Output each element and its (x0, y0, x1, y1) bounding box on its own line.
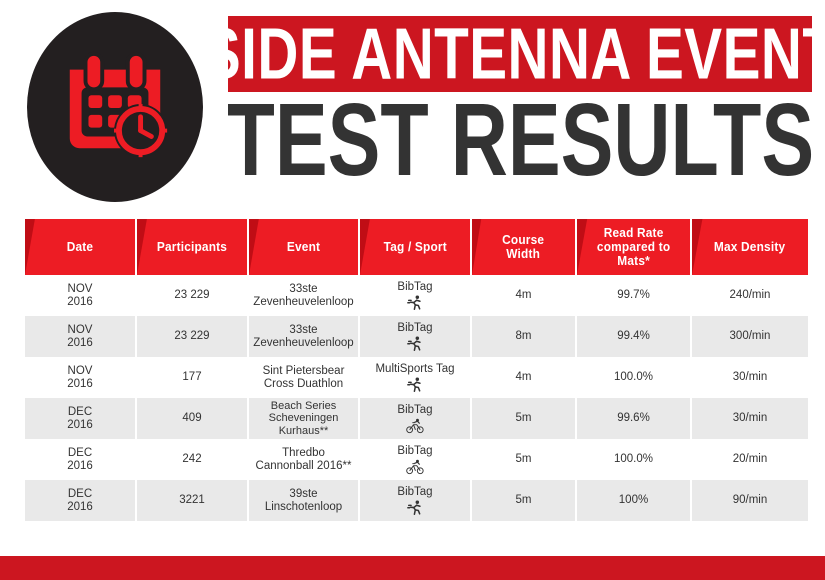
column-header-event: Event (249, 219, 360, 275)
column-header-read-rate-label: Read Rate compared to Mats* (593, 226, 674, 268)
cell-line-1: 409 (182, 412, 201, 425)
cell-line-1: 5m (516, 412, 532, 425)
cell-line-3: Kurhaus** (279, 425, 329, 438)
cell-line-1: 3221 (179, 494, 205, 507)
read-rate-line-1: Read Rate (597, 226, 670, 240)
table-body: NOV201623 22933steZevenheuvelenloopBibTa… (25, 275, 808, 521)
cell-course-width: 4m (472, 357, 577, 398)
cell-line-1: NOV (68, 283, 93, 296)
cell-line-1: 99.7% (617, 289, 650, 302)
running-icon (406, 500, 424, 516)
cell-event: 33steZevenheuvelenloop (249, 316, 360, 357)
cycling-icon (406, 459, 424, 475)
cell-date: NOV2016 (25, 275, 137, 316)
cell-line-1: 240/min (730, 289, 771, 302)
cell-event: Sint PietersbearCross Duathlon (249, 357, 360, 398)
cell-line-1: Thredbo (282, 447, 325, 460)
cell-line-1: 23 229 (174, 289, 209, 302)
cell-date: DEC2016 (25, 398, 137, 439)
table-header-row: Date Participants Event Tag / Sport Cour… (25, 219, 808, 275)
cell-course-width: 5m (472, 439, 577, 480)
cell-date: DEC2016 (25, 439, 137, 480)
column-header-course-width: Course Width (472, 219, 577, 275)
column-header-event-label: Event (283, 240, 324, 254)
cell-date: NOV2016 (25, 357, 137, 398)
column-header-tag-sport-label: Tag / Sport (380, 240, 451, 254)
column-header-date-label: Date (63, 240, 97, 254)
cell-line-1: NOV (68, 365, 93, 378)
cell-read-rate: 99.4% (577, 316, 692, 357)
cell-read-rate: 100.0% (577, 439, 692, 480)
cycling-icon (406, 418, 424, 434)
cell-line-1: 8m (516, 330, 532, 343)
cell-event: 33steZevenheuvelenloop (249, 275, 360, 316)
cell-line-1: 4m (516, 371, 532, 384)
cell-line-2: Cannonball 2016** (256, 460, 352, 473)
cell-course-width: 5m (472, 398, 577, 439)
cell-participants: 177 (137, 357, 249, 398)
cell-line-2: Linschotenloop (265, 501, 342, 514)
calendar-clock-logo (27, 12, 203, 202)
title-block: SIDE ANTENNA EVENT TEST RESULTS (228, 16, 812, 186)
cell-line-1: DEC (68, 447, 92, 460)
table-row: DEC2016242ThredboCannonball 2016**BibTag… (25, 439, 808, 480)
cell-line-2: Zevenheuvelenloop (253, 296, 353, 309)
table-row: DEC2016409Beach SeriesScheveningenKurhau… (25, 398, 808, 439)
column-header-participants-label: Participants (153, 240, 231, 254)
cell-line-2: 2016 (67, 337, 93, 350)
poster-page: SIDE ANTENNA EVENT TEST RESULTS Date Par… (0, 0, 825, 580)
cell-line-1: 99.4% (617, 330, 650, 343)
cell-tag-sport: BibTag (360, 480, 472, 521)
cell-line-1: Beach Series (271, 400, 336, 413)
table-row: NOV2016177Sint PietersbearCross Duathlon… (25, 357, 808, 398)
title-sub: TEST RESULTS (228, 94, 812, 186)
cell-max-density: 30/min (692, 357, 808, 398)
cell-line-1: BibTag (397, 404, 432, 417)
running-icon (406, 295, 424, 311)
cell-max-density: 30/min (692, 398, 808, 439)
cell-line-1: 39ste (289, 488, 317, 501)
cell-date: NOV2016 (25, 316, 137, 357)
cell-participants: 23 229 (137, 275, 249, 316)
cell-line-1: 33ste (289, 283, 317, 296)
cell-line-2: Zevenheuvelenloop (253, 337, 353, 350)
cell-line-2: Cross Duathlon (264, 378, 343, 391)
cell-participants: 23 229 (137, 316, 249, 357)
calendar-clock-icon (56, 48, 174, 166)
results-table: Date Participants Event Tag / Sport Cour… (25, 219, 808, 521)
cell-tag-sport: BibTag (360, 316, 472, 357)
cell-line-1: DEC (68, 488, 92, 501)
table-row: NOV201623 22933steZevenheuvelenloopBibTa… (25, 275, 808, 316)
table-row: NOV201623 22933steZevenheuvelenloopBibTa… (25, 316, 808, 357)
cell-line-1: MultiSports Tag (375, 363, 454, 376)
cell-line-2: 2016 (67, 296, 93, 309)
cell-max-density: 240/min (692, 275, 808, 316)
column-header-max-density: Max Density (692, 219, 808, 275)
cell-line-1: 23 229 (174, 330, 209, 343)
read-rate-line-3: Mats* (597, 254, 670, 268)
cell-participants: 242 (137, 439, 249, 480)
cell-line-2: 2016 (67, 501, 93, 514)
cell-max-density: 90/min (692, 480, 808, 521)
column-header-tag-sport: Tag / Sport (360, 219, 472, 275)
cell-participants: 3221 (137, 480, 249, 521)
cell-line-2: 2016 (67, 378, 93, 391)
cell-line-1: 99.6% (617, 412, 650, 425)
cell-line-2: 2016 (67, 460, 93, 473)
cell-line-1: 5m (516, 453, 532, 466)
course-width-line-2: Width (502, 247, 544, 261)
cell-event: ThredboCannonball 2016** (249, 439, 360, 480)
cell-line-1: 4m (516, 289, 532, 302)
column-header-date: Date (25, 219, 137, 275)
cell-tag-sport: BibTag (360, 439, 472, 480)
cell-line-1: BibTag (397, 322, 432, 335)
cell-event: 39steLinschotenloop (249, 480, 360, 521)
cell-course-width: 4m (472, 275, 577, 316)
cell-line-1: 100.0% (614, 371, 653, 384)
page-title-secondary: TEST RESULTS (228, 94, 812, 186)
cell-line-1: NOV (68, 324, 93, 337)
cell-tag-sport: BibTag (360, 275, 472, 316)
page-title-primary: SIDE ANTENNA EVENT (228, 18, 812, 90)
running-icon (406, 377, 424, 393)
title-banner: SIDE ANTENNA EVENT (228, 16, 812, 92)
cell-course-width: 5m (472, 480, 577, 521)
cell-course-width: 8m (472, 316, 577, 357)
cell-line-1: 33ste (289, 324, 317, 337)
cell-event: Beach SeriesScheveningenKurhaus** (249, 398, 360, 439)
cell-line-2: 2016 (67, 419, 93, 432)
cell-max-density: 300/min (692, 316, 808, 357)
cell-tag-sport: MultiSports Tag (360, 357, 472, 398)
read-rate-line-2: compared to (597, 240, 670, 254)
cell-line-1: 30/min (733, 412, 768, 425)
cell-participants: 409 (137, 398, 249, 439)
table-row: DEC2016322139steLinschotenloopBibTag5m10… (25, 480, 808, 521)
cell-line-1: 5m (516, 494, 532, 507)
footer-bar (0, 556, 825, 580)
column-header-max-density-label: Max Density (711, 240, 790, 254)
column-header-read-rate: Read Rate compared to Mats* (577, 219, 692, 275)
cell-read-rate: 100% (577, 480, 692, 521)
cell-line-1: 30/min (733, 371, 768, 384)
running-icon (406, 336, 424, 352)
cell-line-1: 300/min (730, 330, 771, 343)
column-header-participants: Participants (137, 219, 249, 275)
cell-line-1: 100% (619, 494, 648, 507)
cell-line-1: 177 (182, 371, 201, 384)
cell-read-rate: 100.0% (577, 357, 692, 398)
cell-tag-sport: BibTag (360, 398, 472, 439)
cell-read-rate: 99.7% (577, 275, 692, 316)
cell-line-1: BibTag (397, 486, 432, 499)
column-header-course-width-label: Course Width (499, 233, 549, 261)
cell-line-1: BibTag (397, 281, 432, 294)
cell-line-2: Scheveningen (269, 412, 339, 425)
cell-line-1: DEC (68, 406, 92, 419)
cell-line-1: Sint Pietersbear (263, 365, 345, 378)
cell-read-rate: 99.6% (577, 398, 692, 439)
course-width-line-1: Course (502, 233, 544, 247)
cell-line-1: 242 (182, 453, 201, 466)
cell-max-density: 20/min (692, 439, 808, 480)
cell-line-1: 100.0% (614, 453, 653, 466)
cell-line-1: 90/min (733, 494, 768, 507)
cell-line-1: BibTag (397, 445, 432, 458)
cell-date: DEC2016 (25, 480, 137, 521)
cell-line-1: 20/min (733, 453, 768, 466)
